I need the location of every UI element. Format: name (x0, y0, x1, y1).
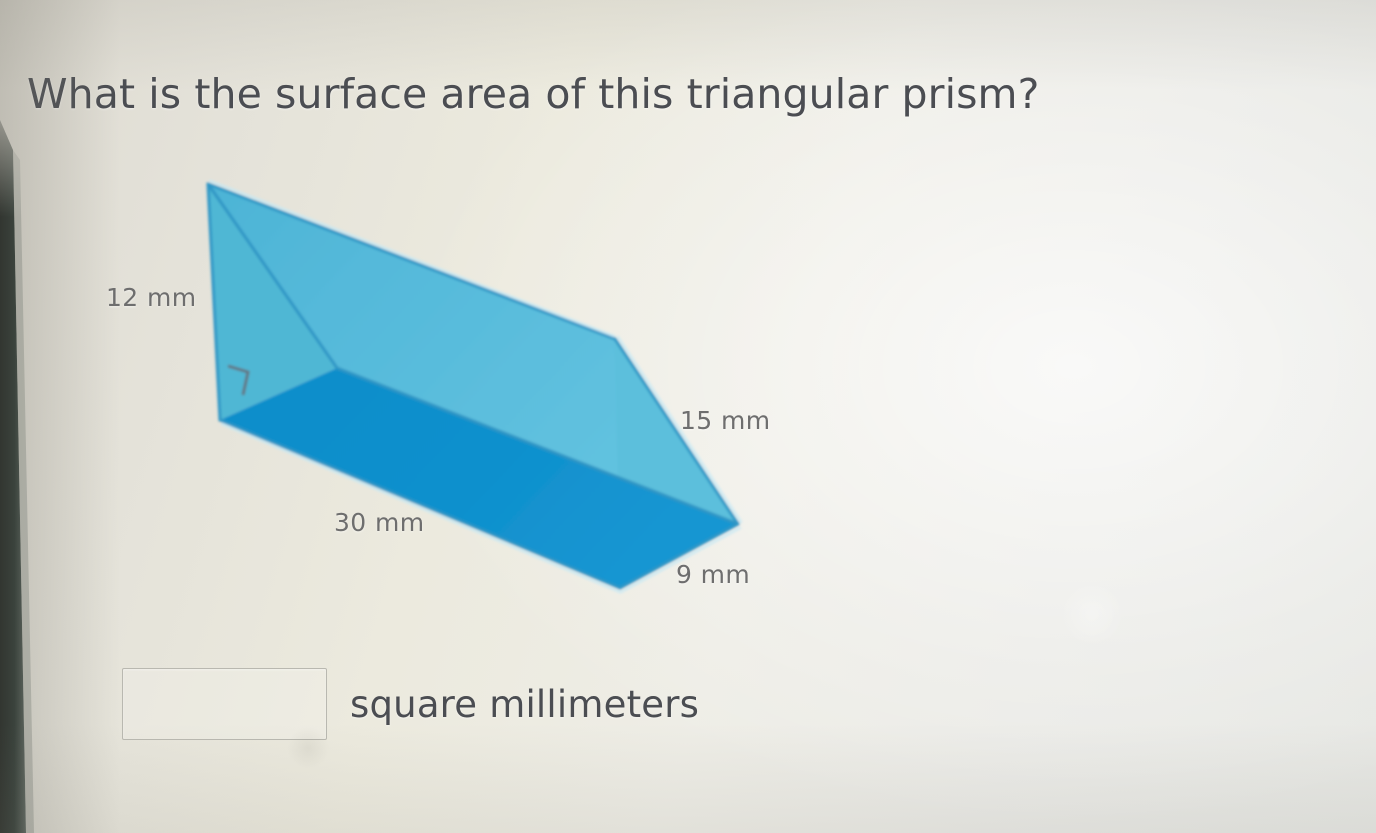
photo-of-worksheet-screen: What is the surface area of this triangu… (0, 0, 1376, 833)
answer-input[interactable] (122, 668, 327, 740)
dimension-label-slant: 15 mm (680, 406, 770, 435)
dimension-label-length: 30 mm (334, 508, 424, 537)
dimension-label-base: 9 mm (676, 560, 750, 589)
page-title: What is the surface area of this triangu… (27, 72, 1257, 118)
unit-label: square millimeters (350, 683, 699, 726)
dimension-label-height: 12 mm (106, 283, 196, 312)
answer-row: square millimeters (122, 668, 699, 740)
